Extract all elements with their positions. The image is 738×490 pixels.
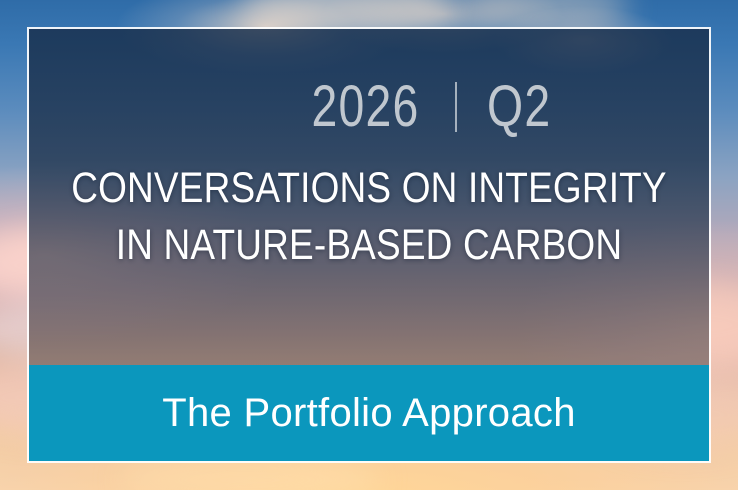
edition-year: 2026	[312, 78, 420, 136]
subtitle-block: The Portfolio Approach	[29, 365, 709, 461]
subtitle-text: The Portfolio Approach	[162, 393, 576, 433]
headline-block: CONVERSATIONS ON INTEGRITY IN NATURE-BAS…	[0, 160, 738, 274]
cloud-shape	[470, 0, 630, 30]
headline-line-1: CONVERSATIONS ON INTEGRITY	[52, 160, 687, 217]
headline-line-2: IN NATURE-BASED CARBON	[52, 217, 687, 274]
edition-line: 2026 Q2	[0, 78, 738, 136]
edition-quarter: Q2	[487, 78, 551, 136]
poster-canvas: 2026 Q2 CONVERSATIONS ON INTEGRITY IN NA…	[0, 0, 738, 490]
edition-divider	[455, 82, 457, 132]
